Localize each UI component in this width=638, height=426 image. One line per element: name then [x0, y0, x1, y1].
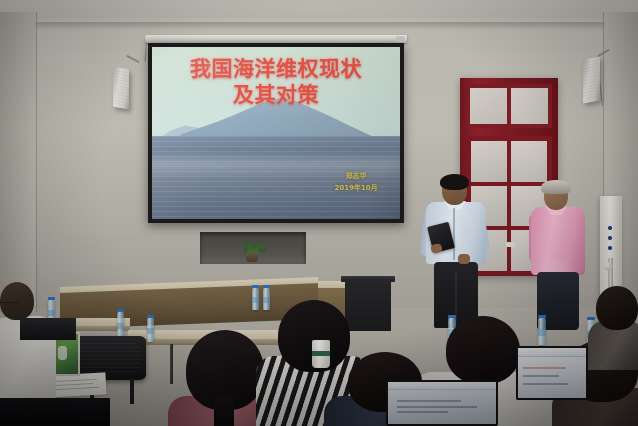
bottle-cap	[117, 309, 124, 312]
student-far-right	[588, 286, 638, 364]
presenter-one-hand-right	[458, 254, 470, 264]
laptop-text-line	[523, 367, 565, 369]
bottle-cap	[263, 285, 270, 288]
marker-dot	[608, 236, 612, 240]
laptop[interactable]	[386, 380, 498, 426]
housing-endcap	[396, 36, 405, 42]
laptop-toolbar	[518, 348, 586, 357]
presenter-one	[424, 176, 490, 328]
laptop-screen	[516, 346, 588, 400]
speaker-grille	[115, 70, 127, 106]
screen-surface: 我国海洋维权现状 及其对策 郑志华 2019年10月	[152, 47, 400, 219]
presenter-two	[531, 182, 589, 330]
slide-presenter-name: 郑志华	[334, 171, 377, 183]
bottle-cap	[252, 285, 259, 288]
laptop[interactable]	[516, 346, 588, 400]
paper-cup	[312, 340, 330, 368]
ponytail	[214, 396, 234, 426]
left-wall	[0, 12, 36, 312]
cup-band	[312, 351, 330, 356]
slide-title-line-2: 及其对策	[152, 82, 400, 109]
monitor-back	[20, 318, 76, 340]
bottle-label	[147, 328, 154, 334]
door-pane	[511, 88, 548, 124]
student-hair	[446, 316, 520, 384]
slide-title: 我国海洋维权现状 及其对策	[152, 56, 400, 110]
water-bottle	[117, 312, 124, 337]
door-handle[interactable]	[506, 242, 515, 247]
laptop-text-line	[397, 406, 477, 408]
wall-speaker-right-icon	[583, 57, 600, 104]
slide-date: 2019年10月	[334, 183, 377, 195]
slide-title-line-1: 我国海洋维权现状	[152, 56, 400, 83]
laptop-text-line	[523, 375, 558, 377]
bottle-cap	[147, 315, 154, 318]
whiteboard-knob[interactable]	[604, 262, 613, 271]
water-bottle	[147, 318, 154, 342]
ceiling-shadow	[0, 22, 638, 30]
presenter-one-placket	[453, 208, 455, 260]
door-pane	[470, 88, 507, 124]
door-pane	[511, 141, 547, 182]
laptop-text-line	[397, 400, 462, 402]
glasses-icon	[0, 299, 19, 303]
laptop-toolbar	[388, 382, 496, 390]
glasses-icon	[443, 187, 466, 192]
presenter-two-hair	[541, 180, 571, 194]
laptop-text-line	[397, 411, 449, 413]
presenter-two-shirt	[531, 207, 585, 275]
door-transom	[466, 84, 552, 128]
wall-corner-left	[36, 12, 37, 312]
screen-housing	[145, 35, 407, 43]
wall-speaker-left-icon	[113, 67, 129, 110]
projection-screen: 我国海洋维权现状 及其对策 郑志华 2019年10月	[148, 43, 404, 223]
bottle-label	[117, 323, 124, 330]
speaker-grille	[585, 60, 598, 100]
student-head	[596, 286, 638, 330]
laptop-screen	[386, 380, 498, 426]
lecture-hall-photo: 我国海洋维权现状 及其对策 郑志华 2019年10月	[0, 0, 638, 426]
student-far-left-edge	[0, 398, 110, 426]
marker-dot	[608, 246, 612, 250]
slide-byline: 郑志华 2019年10月	[334, 171, 377, 195]
marker-dot	[608, 226, 612, 230]
laptop-text-line	[523, 383, 568, 385]
plant-pot	[246, 252, 258, 262]
chair-post	[130, 378, 134, 404]
